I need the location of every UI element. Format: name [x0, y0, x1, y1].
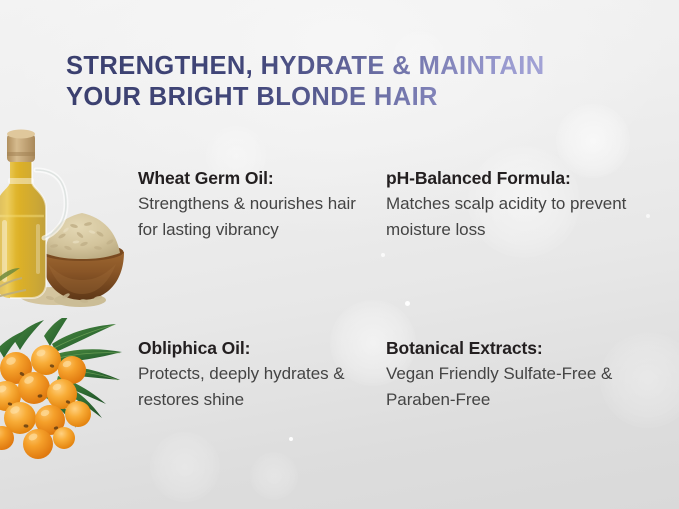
product-feature-banner: STRENGTHEN, HYDRATE & MAINTAIN YOUR BRIG… [0, 0, 679, 509]
feature-body: Strengthens & nourishes hair for lasting… [138, 191, 374, 242]
feature-wheat-germ-oil: Wheat Germ Oil: Strengthens & nourishes … [138, 167, 374, 242]
feature-title: Wheat Germ Oil: [138, 167, 374, 189]
feature-body: Protects, deeply hydrates & restores shi… [138, 361, 378, 412]
feature-botanical-extracts: Botanical Extracts: Vegan Friendly Sulfa… [386, 337, 662, 412]
wheat-germ-oil-photo [0, 112, 132, 308]
feature-title: pH-Balanced Formula: [386, 167, 662, 189]
feature-ph-balanced-formula: pH-Balanced Formula: Matches scalp acidi… [386, 167, 662, 242]
feature-obliphica-oil: Obliphica Oil: Protects, deeply hydrates… [138, 337, 378, 412]
feature-body: Matches scalp acidity to prevent moistur… [386, 191, 662, 242]
sea-buckthorn-berries-photo [0, 318, 126, 468]
feature-title: Botanical Extracts: [386, 337, 662, 359]
feature-body: Vegan Friendly Sulfate-Free & Paraben-Fr… [386, 361, 662, 412]
feature-title: Obliphica Oil: [138, 337, 378, 359]
